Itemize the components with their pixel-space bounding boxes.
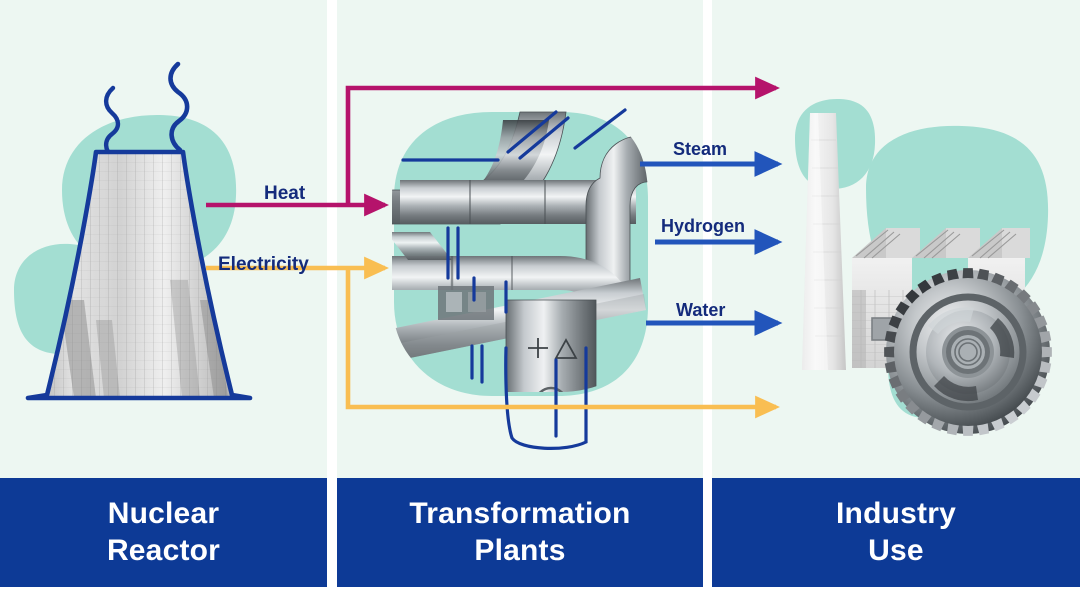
footer-label-transformation-plants: Transformation Plants [409, 496, 630, 569]
footer-industry-use: Industry Use [712, 478, 1080, 587]
panel-background-nuclear-reactor [0, 0, 327, 478]
footer-label-nuclear-reactor: Nuclear Reactor [107, 496, 220, 569]
flow-label-water: Water [676, 300, 725, 321]
panel-background-industry-use [712, 0, 1080, 478]
footer-label-industry-use: Industry Use [836, 496, 956, 569]
footer-transformation-plants: Transformation Plants [337, 478, 703, 587]
flow-label-heat: Heat [264, 183, 305, 205]
flow-label-steam: Steam [673, 139, 727, 160]
flow-label-hydrogen: Hydrogen [661, 216, 745, 237]
footer-nuclear-reactor: Nuclear Reactor [0, 478, 327, 587]
panel-background-transformation-plants [337, 0, 703, 478]
flow-label-electricity: Electricity [218, 254, 309, 276]
diagram-canvas: Heat Electricity Steam Hydrogen Water Nu… [0, 0, 1080, 606]
